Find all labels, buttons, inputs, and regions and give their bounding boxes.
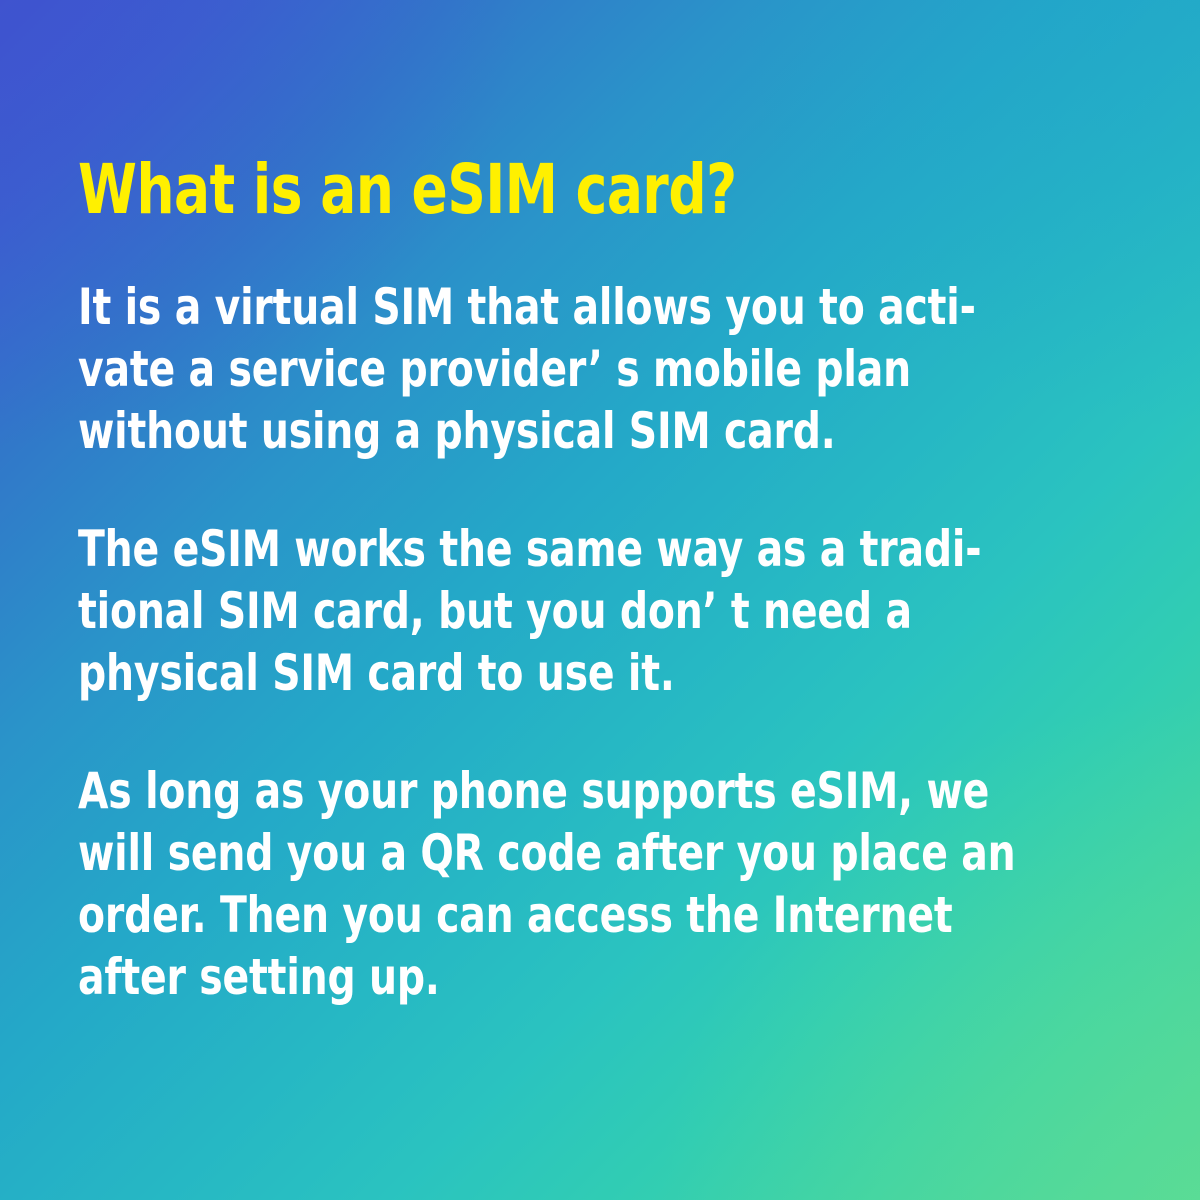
paragraph-line: As long as your phone supports eSIM, we bbox=[78, 760, 992, 822]
paragraph-line: The eSIM works the same way as a tradi- bbox=[78, 518, 992, 580]
page-title: What is an eSIM card? bbox=[78, 0, 976, 232]
paragraph-line: physical SIM card to use it. bbox=[78, 642, 992, 704]
paragraph-line: order. Then you can access the Internet bbox=[78, 884, 992, 946]
paragraph-line: after setting up. bbox=[78, 946, 992, 1008]
paragraph-line: tional SIM card, but you don’ t need a bbox=[78, 580, 992, 642]
paragraph-definition: It is a virtual SIM that allows you to a… bbox=[78, 276, 992, 462]
paragraph-line: vate a service provider’ s mobile plan bbox=[78, 338, 992, 400]
paragraph-line: will send you a QR code after you place … bbox=[78, 822, 992, 884]
paragraph-activation: As long as your phone supports eSIM, we … bbox=[78, 760, 992, 1008]
paragraph-how-it-works: The eSIM works the same way as a tradi- … bbox=[78, 518, 992, 704]
card-content: What is an eSIM card? It is a virtual SI… bbox=[0, 0, 1200, 1008]
body-copy: It is a virtual SIM that allows you to a… bbox=[78, 276, 1122, 1008]
paragraph-line: It is a virtual SIM that allows you to a… bbox=[78, 276, 992, 338]
paragraph-line: without using a physical SIM card. bbox=[78, 400, 992, 462]
esim-info-card: What is an eSIM card? It is a virtual SI… bbox=[0, 0, 1200, 1200]
